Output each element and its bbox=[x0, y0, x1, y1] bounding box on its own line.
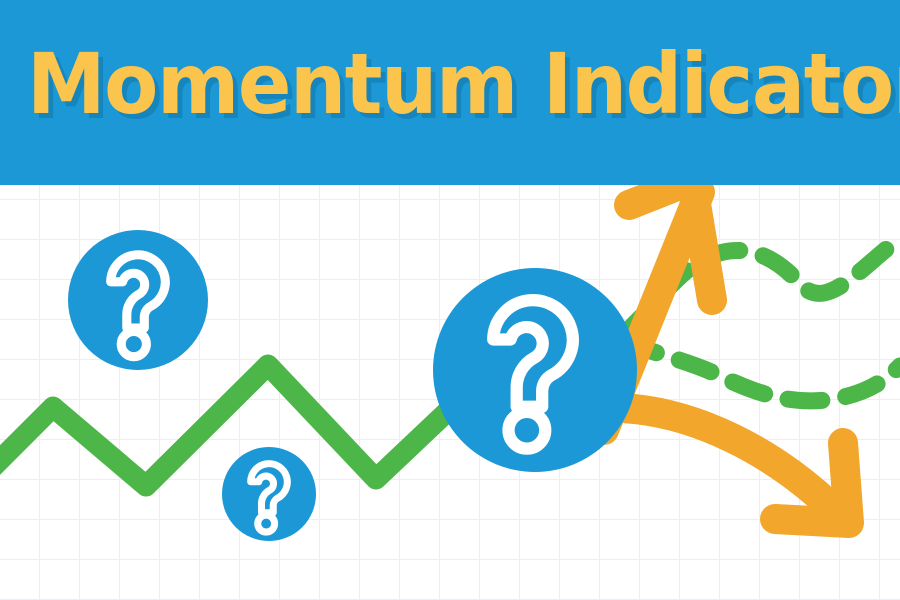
illustration-canvas: Momentum Indicator bbox=[0, 0, 900, 600]
down-arrow bbox=[600, 408, 849, 523]
page-title: Momentum Indicator bbox=[27, 24, 873, 144]
title-banner: Momentum Indicator bbox=[0, 0, 900, 185]
question-mark-top-left bbox=[68, 230, 208, 370]
forecast-line-down-dashed bbox=[624, 342, 900, 401]
down-arrow-shaft bbox=[600, 408, 840, 516]
question-mark-bottom-left bbox=[222, 447, 316, 541]
question-mark-center bbox=[433, 268, 637, 472]
